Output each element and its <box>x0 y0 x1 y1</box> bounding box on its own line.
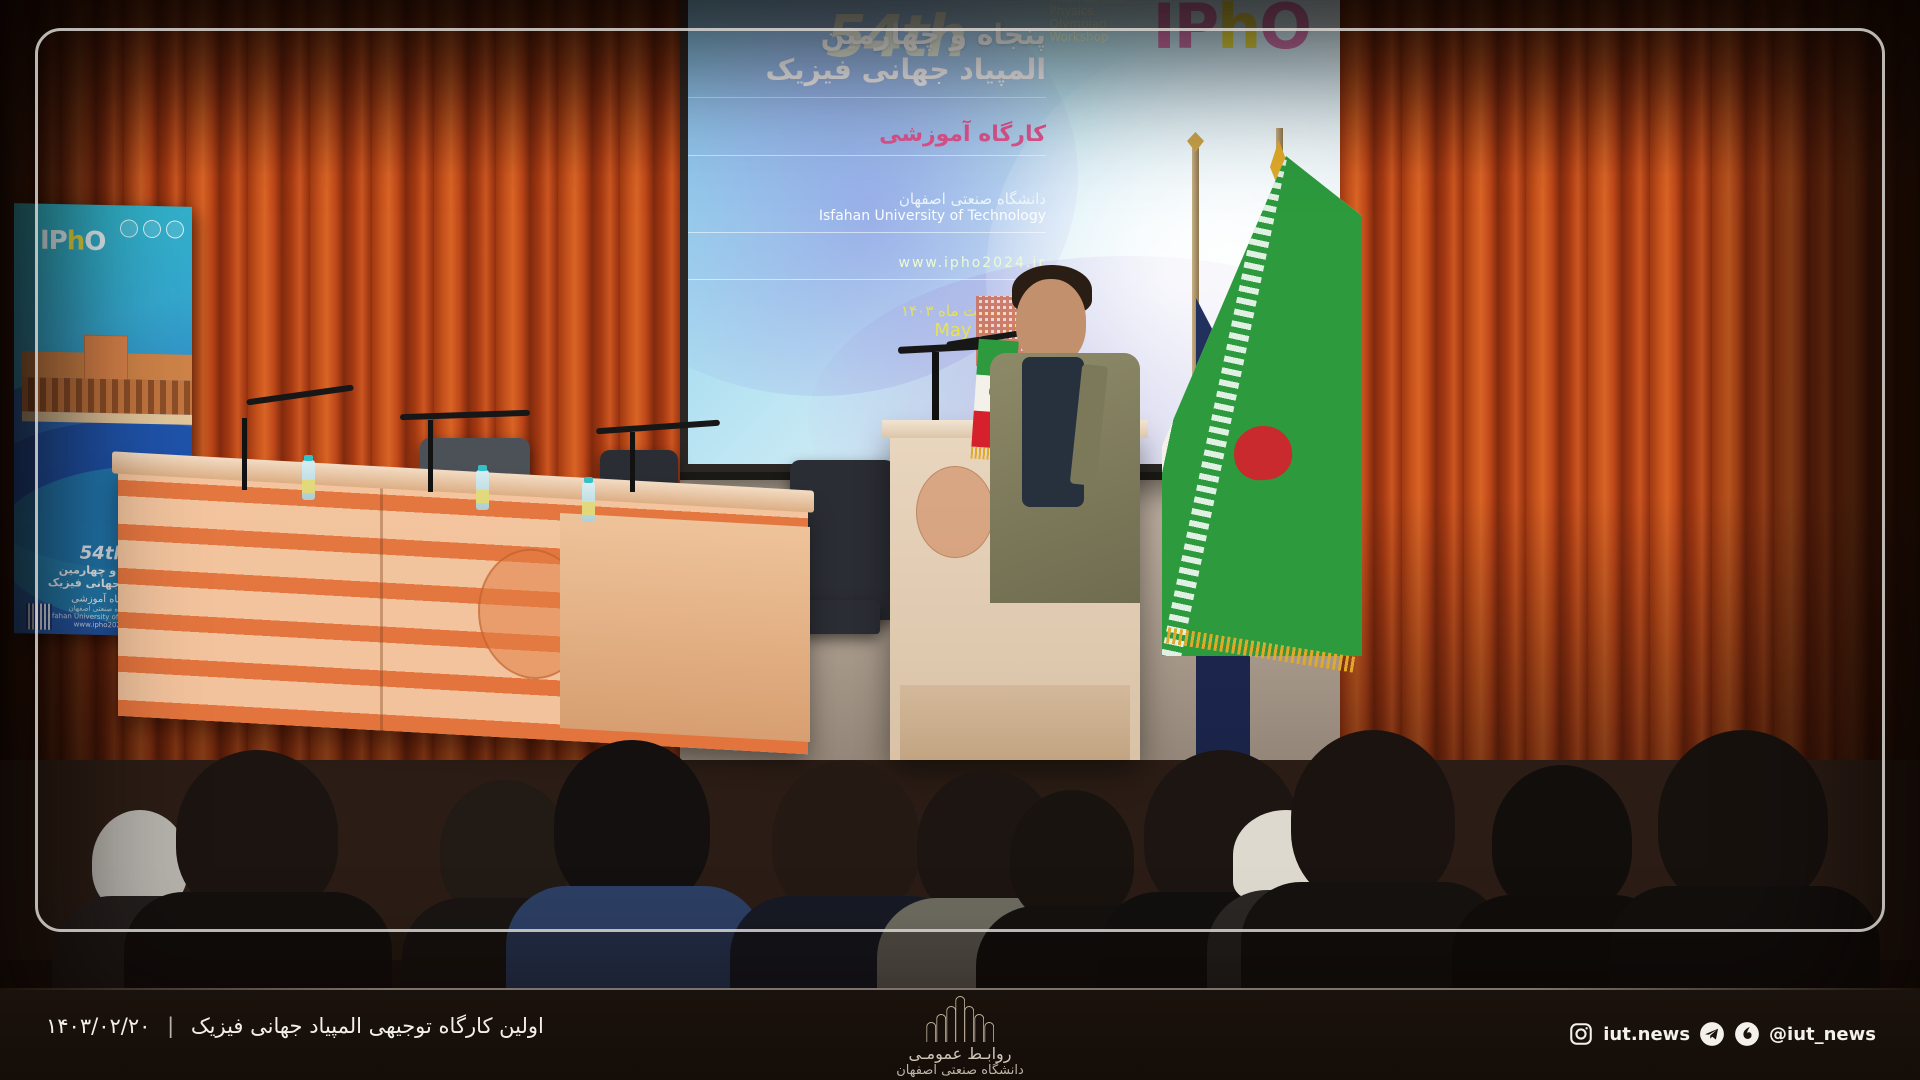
slide-rule-1 <box>688 97 1046 98</box>
audience-head <box>554 740 710 910</box>
bottle-label <box>582 502 595 515</box>
bottle-cap <box>304 455 313 461</box>
pr-label-line1: روابـط عمومـی <box>896 1044 1024 1063</box>
bridge-base <box>22 411 192 425</box>
bottle-label <box>476 490 489 503</box>
water-bottle <box>476 470 489 510</box>
flag-standing-iran <box>1240 128 1370 648</box>
speaker-chair-base <box>800 600 880 634</box>
podium-base <box>900 685 1130 760</box>
slide-subtitle: کارگاه آموزشی <box>688 122 1046 147</box>
bale-handle[interactable]: @iut_news <box>1769 1024 1876 1045</box>
audience-member <box>1640 730 1840 980</box>
audience-head <box>1492 765 1632 915</box>
seal-icon <box>166 220 184 238</box>
ipho-logo-slide: IPhO <box>1153 0 1310 63</box>
audience-head <box>1658 730 1828 910</box>
photo-canvas: International Physics Olympiad Workshop … <box>0 0 1920 1080</box>
audience-member <box>540 740 720 980</box>
slide-header-en: International Physics Olympiad Workshop <box>1049 0 1126 44</box>
iut-emblem <box>916 466 994 558</box>
public-relations-logo: روابـط عمومـی دانشگاه صنعتی اصفهان <box>896 994 1024 1078</box>
seal-icon <box>143 220 161 238</box>
table-microphone-stand <box>242 418 247 490</box>
slide-rule-2 <box>688 155 1046 156</box>
caption-event-title: اولین کارگاه توجیهی المپیاد جهانی فیزیک <box>191 1014 544 1038</box>
audience-head <box>772 760 920 918</box>
curtain-shadow-right <box>1680 0 1920 800</box>
caption-bar: اولین کارگاه توجیهی المپیاد جهانی فیزیک … <box>0 988 1920 1080</box>
speaker-person <box>990 265 1150 635</box>
slide-title-line1: پنجاه و چهارمین <box>688 18 1046 51</box>
telegram-icon[interactable] <box>1699 1021 1725 1047</box>
water-bottle <box>582 482 595 522</box>
water-bottle <box>302 460 315 500</box>
panel-table-side <box>560 513 810 742</box>
caption-date: ۱۴۰۳/۰۲/۲۰ <box>46 1014 150 1038</box>
bridge-arches <box>22 377 192 415</box>
slide-university-fa: دانشگاه صنعتی اصفهان <box>688 190 1046 208</box>
social-handles: iut.news @iut_news <box>1568 1021 1876 1047</box>
slide-title-line2: المپیاد جهانی فیزیک <box>688 51 1046 89</box>
bale-icon[interactable] <box>1734 1021 1760 1047</box>
bottle-cap <box>478 465 487 471</box>
slide-rule-3 <box>688 232 1046 233</box>
caption-separator: | <box>167 1014 174 1038</box>
table-microphone-stand <box>630 432 635 492</box>
audience-head <box>1010 790 1134 924</box>
iut-architectural-icon <box>924 994 996 1042</box>
audience-head <box>1291 730 1455 906</box>
bottle-label <box>302 480 315 493</box>
caption-event-line: اولین کارگاه توجیهی المپیاد جهانی فیزیک … <box>46 1014 544 1038</box>
audience-member <box>160 750 350 980</box>
banner-qr-code-icon <box>26 603 52 630</box>
audience-member <box>1275 730 1465 980</box>
ipho-logo-banner: IPhO <box>40 226 105 257</box>
pr-label-line2: دانشگاه صنعتی اصفهان <box>896 1063 1024 1078</box>
instagram-icon[interactable] <box>1568 1021 1594 1047</box>
table-microphone-stand <box>428 420 433 492</box>
bottle-cap <box>584 477 593 483</box>
instagram-handle[interactable]: iut.news <box>1603 1024 1690 1045</box>
khaju-bridge-artwork <box>22 333 192 442</box>
seal-icon <box>120 219 138 237</box>
slide-university-en: Isfahan University of Technology <box>688 208 1046 224</box>
table-seam <box>380 488 383 730</box>
sponsor-seals <box>120 219 184 238</box>
